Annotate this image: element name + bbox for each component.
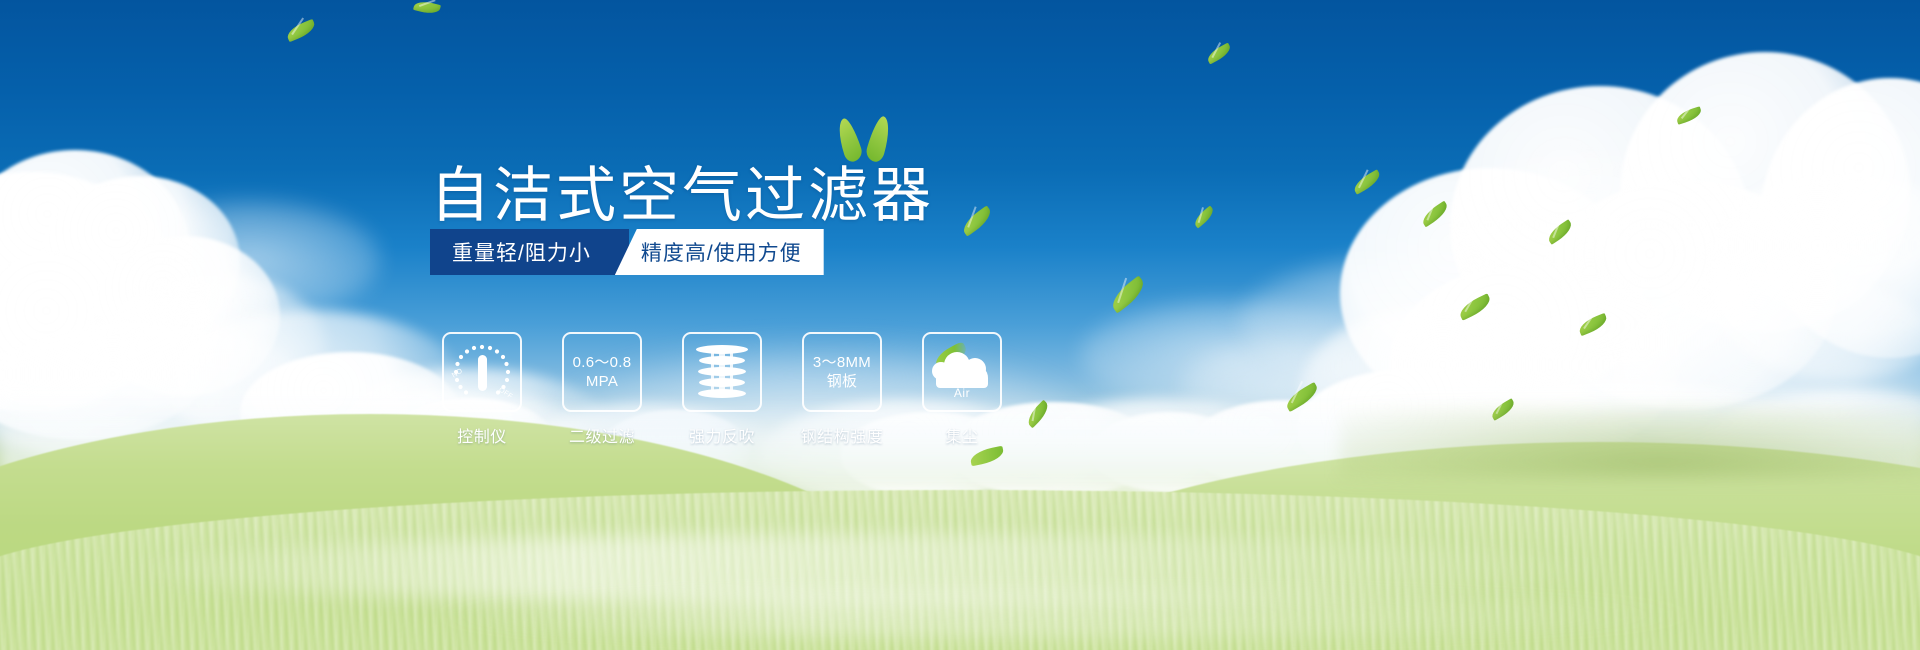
feature-icon-box: Air	[922, 332, 1002, 412]
sprout-leaf-left	[834, 116, 865, 163]
coil-ring	[696, 345, 748, 354]
tagline: 重量轻/阻力小 精度高/使用方便	[430, 229, 824, 275]
air-cloud-icon: Air	[930, 346, 994, 398]
feature-item-control-gauge[interactable]: NO OFF 控制仪	[438, 332, 526, 447]
decorative-leaf	[969, 446, 1005, 467]
coil-ring	[699, 378, 745, 387]
page-title: 自洁式空气过滤器	[430, 166, 934, 226]
banner-content: 自洁式空气过滤器 重量轻/阻力小 精度高/使用方便	[0, 0, 1920, 650]
feature-item-dust-collection[interactable]: Air 集尘	[918, 332, 1006, 447]
feature-item-pressure[interactable]: 0.6～0.8 MPA 二级过滤	[558, 332, 646, 447]
feature-label: 集尘	[945, 423, 978, 447]
sprout-leaves-icon	[832, 110, 902, 162]
feature-label: 钢结构强度	[801, 423, 884, 447]
feature-label: 二级过滤	[569, 423, 635, 447]
coil-blowback-icon	[696, 343, 748, 401]
feature-list: NO OFF 控制仪 0.6～0.8 MPA 二级过滤	[438, 332, 1006, 447]
feature-label: 控制仪	[457, 423, 507, 447]
feature-icon-box: 3～8MM 钢板	[802, 332, 882, 412]
tagline-right: 精度高/使用方便	[615, 229, 824, 275]
hero-banner: 自洁式空气过滤器 重量轻/阻力小 精度高/使用方便	[0, 0, 1920, 650]
feature-item-steel-plate[interactable]: 3～8MM 钢板 钢结构强度	[798, 332, 886, 447]
cloud-body	[936, 364, 988, 388]
pressure-value-line1: 0.6～0.8	[573, 353, 632, 372]
sprout-leaf-right	[864, 114, 894, 163]
air-label: Air	[930, 386, 994, 400]
feature-icon-box	[682, 332, 762, 412]
gauge-needle	[478, 355, 487, 391]
coil-ring	[698, 367, 746, 376]
feature-label: 强力反吹	[689, 423, 755, 447]
gauge-icon: NO OFF	[451, 343, 513, 401]
feature-icon-box: 0.6～0.8 MPA	[562, 332, 642, 412]
coil-ring	[698, 389, 746, 398]
steel-value-line1: 3～8MM	[813, 353, 871, 372]
feature-icon-box: NO OFF	[442, 332, 522, 412]
coil-ring	[699, 356, 745, 365]
feature-item-blowback[interactable]: 强力反吹	[678, 332, 766, 447]
pressure-value-line2: MPA	[586, 372, 618, 391]
tagline-left: 重量轻/阻力小	[430, 229, 629, 275]
steel-value-line2: 钢板	[827, 372, 858, 391]
